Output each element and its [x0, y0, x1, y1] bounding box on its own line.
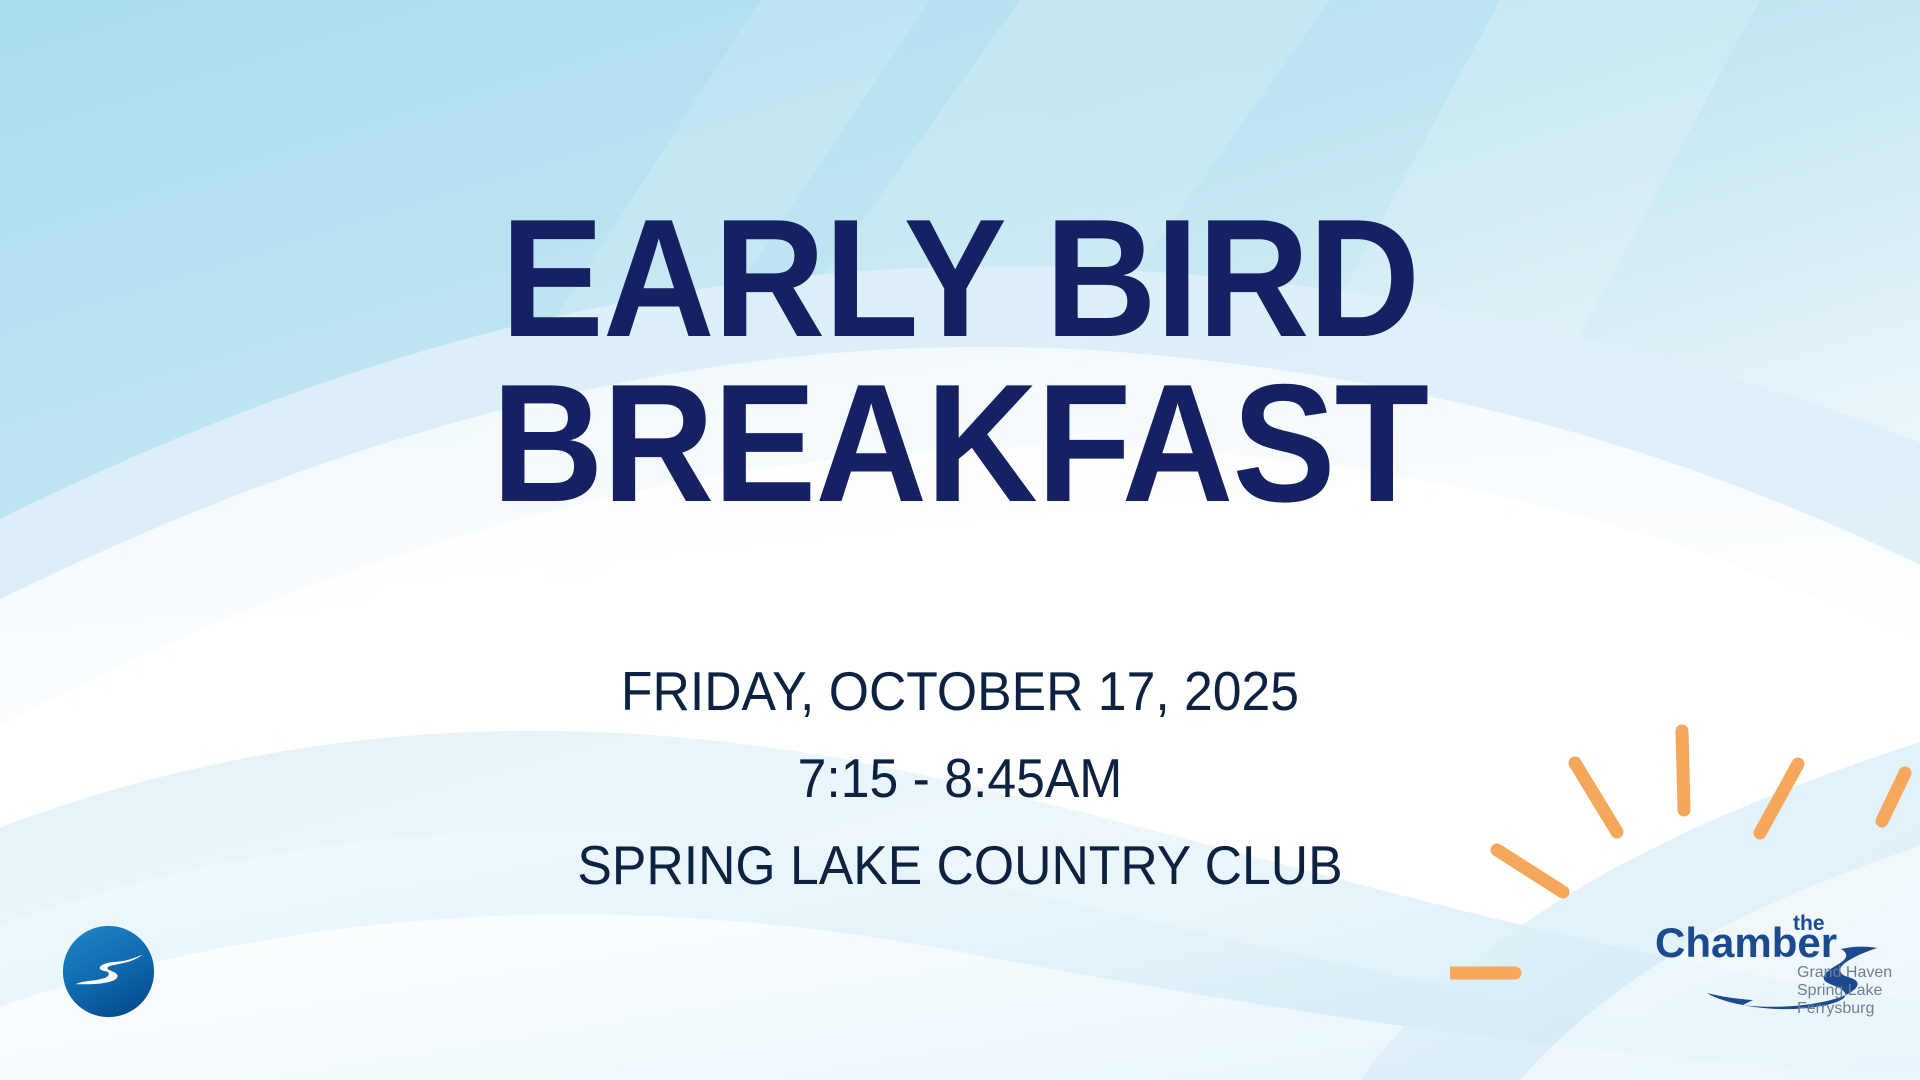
- event-venue: SPRING LAKE COUNTRY CLUB: [58, 822, 1863, 909]
- event-details: FRIDAY, OCTOBER 17, 2025 7:15 - 8:45AM S…: [0, 648, 1920, 909]
- title-line-1: EARLY BIRD: [77, 196, 1843, 361]
- event-date: FRIDAY, OCTOBER 17, 2025: [58, 648, 1863, 735]
- logo-tagline-line-2: Spring Lake: [1797, 982, 1882, 999]
- event-time: 7:15 - 8:45AM: [58, 735, 1863, 822]
- title-line-2: BREAKFAST: [77, 361, 1843, 526]
- logo-tagline-line-1: Grand Haven: [1797, 964, 1892, 981]
- event-flyer-slide: EARLY BIRD BREAKFAST FRIDAY, OCTOBER 17,…: [0, 0, 1920, 1080]
- chamber-circle-badge-icon: [60, 923, 157, 1020]
- logo-tagline-line-3: Ferrysburg: [1797, 1000, 1874, 1017]
- chamber-logo: the Chamber Grand Haven Spring Lake Ferr…: [1645, 905, 1895, 1040]
- event-title: EARLY BIRD BREAKFAST: [0, 196, 1920, 525]
- logo-chamber-text: Chamber: [1655, 919, 1837, 966]
